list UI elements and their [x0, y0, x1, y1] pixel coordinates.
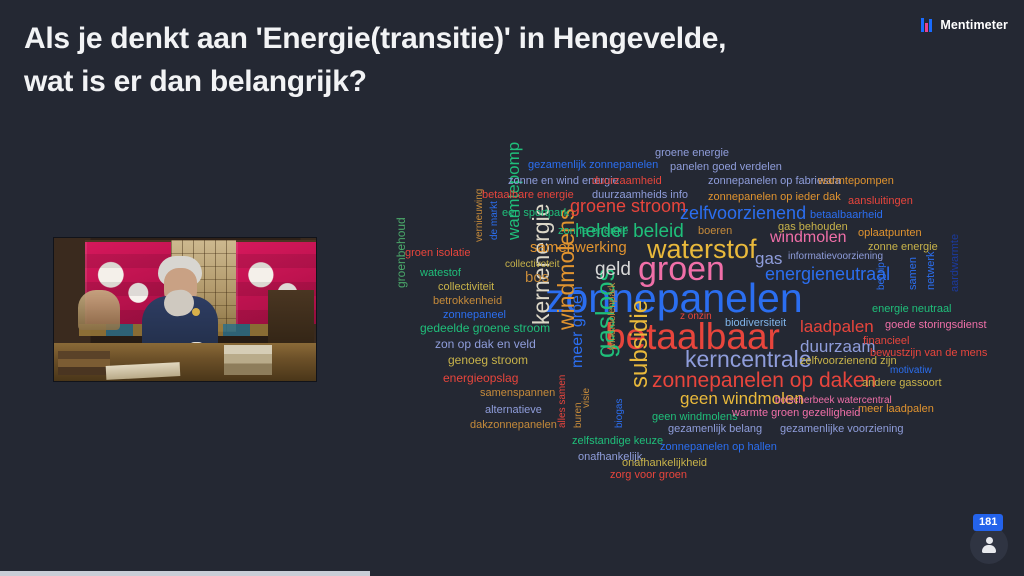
presenter-video[interactable]	[53, 237, 317, 382]
cloud-word: groene energie	[655, 148, 729, 159]
mentimeter-logo: Mentimeter	[921, 18, 1008, 32]
cloud-word: gas behouden	[778, 222, 848, 233]
cloud-word: energieopslag	[443, 372, 518, 384]
cloud-word: geld	[595, 260, 631, 279]
cloud-word: zonnepaneel	[443, 310, 506, 321]
brand-name: Mentimeter	[940, 18, 1008, 32]
cloud-word: z onzin	[680, 312, 712, 322]
cloud-word: gas	[755, 250, 782, 267]
cloud-word: gezamenlijk zonnepanelen	[528, 160, 658, 171]
cloud-word: panelen goed verdelen	[670, 162, 782, 173]
cloud-word: samenspannen	[480, 388, 555, 399]
cloud-word: betaalbaarheid	[810, 210, 883, 221]
cloud-word: motivatiw	[890, 366, 932, 376]
cloud-word: meer laadpalen	[858, 404, 934, 415]
cloud-word: zonnepanelen op hallen	[660, 442, 777, 453]
cloud-word: watestof	[420, 268, 461, 279]
question-line-1: Als je denkt aan 'Energie(transitie)' in…	[24, 18, 884, 61]
cloud-word: aansluitingen	[848, 196, 913, 207]
participant-count-badge: 181	[973, 514, 1003, 531]
cloud-word: dakzonnepanelen	[470, 420, 557, 431]
cloud-word: energie neutraal	[872, 304, 952, 315]
cabinet	[268, 290, 314, 348]
presenter-medal	[192, 308, 200, 316]
cloud-word: warmte groen gezelligheid	[732, 408, 860, 419]
cloud-word: laadpalen	[800, 318, 874, 335]
mentimeter-m-icon	[921, 18, 934, 32]
cloud-word: biodiversiteit	[725, 318, 786, 329]
cloud-word: windmolenpark	[608, 283, 618, 350]
cloud-word: gezamenlijke voorziening	[780, 424, 904, 435]
cloud-word: boeren	[698, 226, 732, 237]
cloud-word: zonnepanelen op daken	[652, 370, 876, 391]
cloud-word: zelfvoorzienend zijn	[800, 356, 897, 367]
cloud-word: informatievoorziening	[788, 252, 883, 262]
cloud-word: begrip	[877, 262, 887, 290]
cloud-word: aardwarmte	[950, 234, 961, 292]
participant-counter[interactable]: 181	[970, 520, 1010, 560]
cloud-word: energieneutraal	[765, 265, 890, 283]
person-icon	[981, 537, 997, 553]
avatar[interactable]	[970, 526, 1008, 564]
cloud-word: samen	[908, 257, 919, 290]
cloud-word: collectiviteit	[438, 282, 494, 293]
cloud-word: netwerk	[926, 251, 937, 290]
cloud-word: gezamenlijk belang	[668, 424, 762, 435]
cloud-word: subsidie	[628, 300, 652, 388]
cloud-word: duurzaamheids info	[592, 190, 688, 201]
cloud-word: alles samen	[558, 375, 568, 428]
cloud-word: geen windmolens	[652, 412, 738, 423]
cloud-word: meer groen	[570, 286, 586, 368]
books-left	[58, 351, 110, 375]
cloud-word: bos	[525, 270, 549, 285]
question-line-2: wat is er dan belangrijk?	[24, 61, 884, 104]
cloud-word: zelfstandige keuze	[572, 436, 663, 447]
cloud-word: genoeg stroom	[448, 354, 528, 366]
cloud-word: zonnepanelen op ieder dak	[708, 192, 841, 203]
presentation-slide: Als je denkt aan 'Energie(transitie)' in…	[0, 0, 1024, 576]
cloud-word: groen isolatie	[405, 248, 470, 259]
cloud-word: betaalbare energie	[482, 190, 574, 201]
cloud-word: visie	[582, 388, 592, 408]
cloud-word: zorg voor groen	[610, 470, 687, 481]
cloud-word: een sportpark	[502, 208, 569, 219]
cloud-word: kerncentrale	[685, 348, 812, 371]
cloud-word: zelfvoorzienend	[680, 204, 806, 222]
cloud-word: collectivoteit	[505, 260, 559, 270]
cloud-word: zon op dak en veld	[435, 338, 536, 350]
cloud-word: de markt	[490, 201, 500, 240]
books-right	[224, 345, 272, 375]
cloud-word: betrokkenheid	[433, 296, 502, 307]
cloud-word: onafhankelijkheid	[622, 458, 707, 469]
video-scene	[54, 238, 316, 381]
progress-bar[interactable]	[0, 571, 370, 576]
cloud-word: zonne-energie	[558, 226, 628, 237]
cloud-word: biogas	[615, 399, 625, 428]
cloud-word: andere gassoort	[862, 378, 942, 389]
cloud-word: samenwerking	[530, 240, 627, 255]
cloud-word: goede storingsdienst	[885, 320, 987, 331]
cloud-word: financieel	[863, 336, 909, 347]
cloud-word: warmtepompen	[818, 176, 894, 187]
page-title: Als je denkt aan 'Energie(transitie)' in…	[24, 18, 884, 103]
cloud-word: alternatieve	[485, 405, 542, 416]
word-cloud: zonnepanelenbetaalbaargroenwaterstofkern…	[380, 140, 1020, 480]
cloud-word: oplaatpunten	[858, 228, 922, 239]
cloud-word: gedeelde groene stroom	[420, 322, 550, 334]
cloud-word: duurzaamheid	[592, 176, 662, 187]
desk-lamp	[78, 290, 120, 330]
